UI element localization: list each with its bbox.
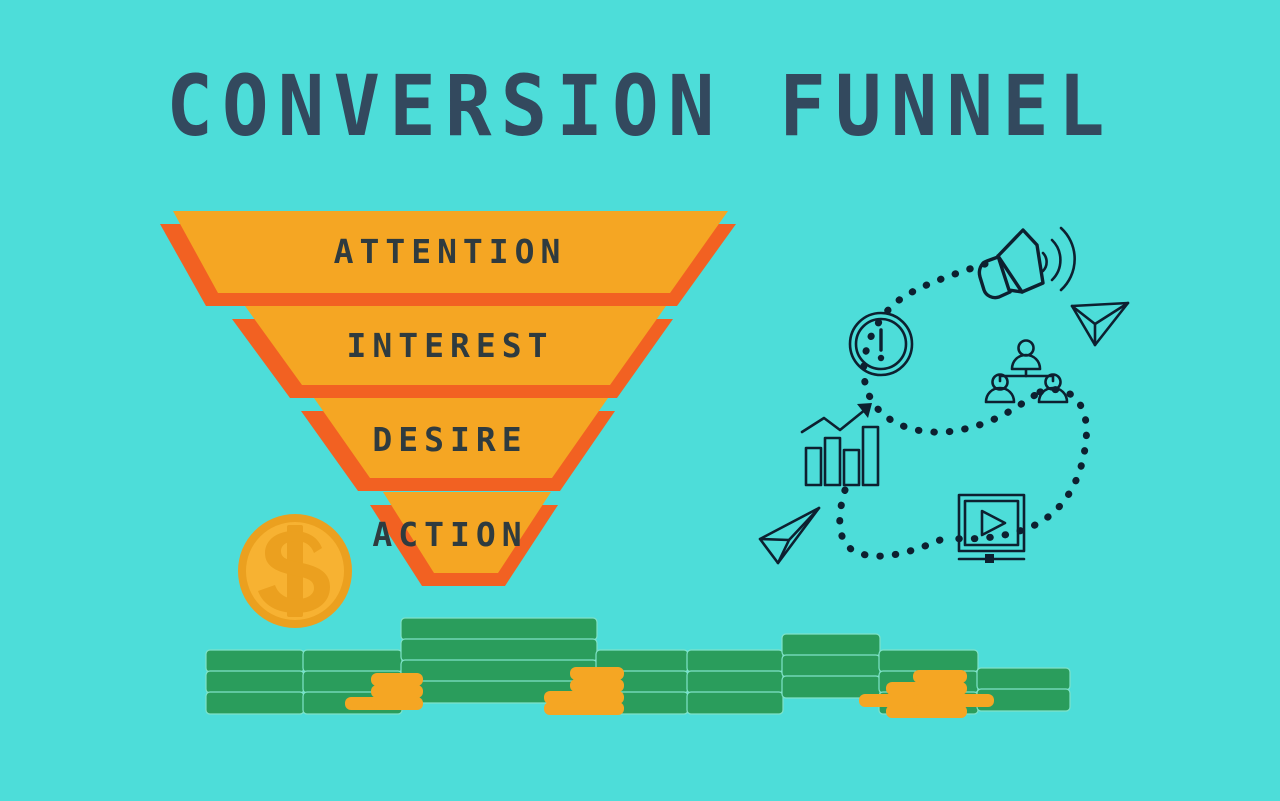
paper-plane-icon-right: [1072, 303, 1128, 345]
bar-chart-growth-icon: [802, 403, 878, 485]
paper-plane-icon-left: [760, 508, 819, 563]
video-player-icon: [959, 495, 1024, 563]
dotted-path: [840, 264, 1087, 556]
poster-canvas: CONVERSION FUNNEL ATTENTION INTEREST DES…: [0, 0, 1280, 801]
megaphone-icon: [979, 228, 1074, 298]
marketing-icons-illustration: [0, 0, 1280, 801]
